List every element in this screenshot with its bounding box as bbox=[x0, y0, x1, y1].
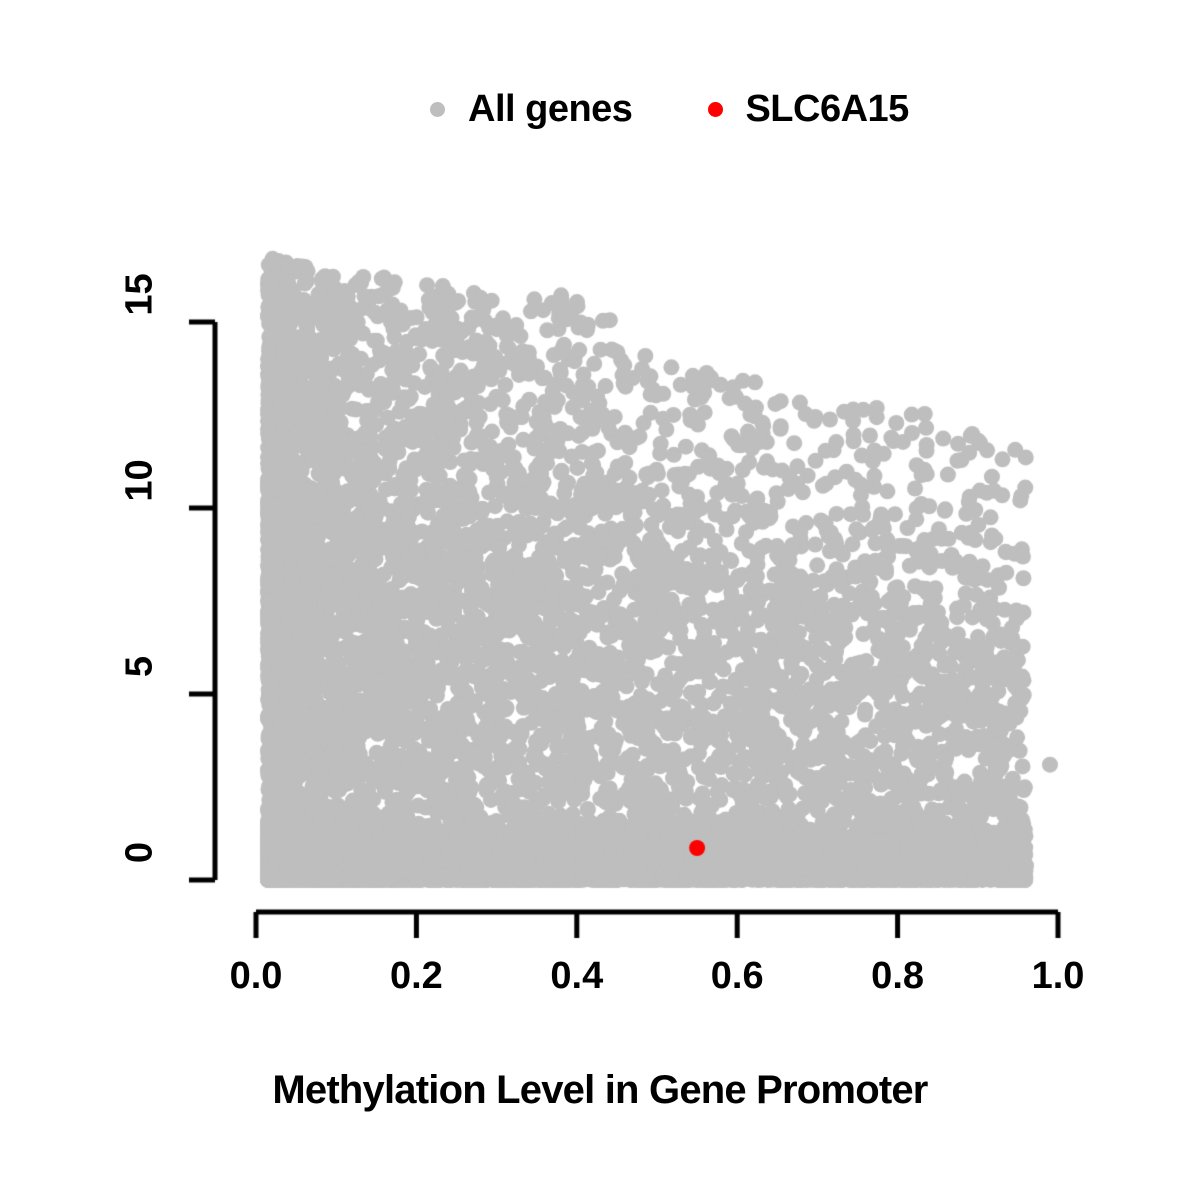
x-tick-label: 0.4 bbox=[550, 955, 603, 998]
chart-legend: All genes SLC6A15 bbox=[430, 78, 990, 140]
legend-marker-all-genes-icon bbox=[430, 102, 445, 117]
scatter-plot-figure: All genes SLC6A15 Gene Expression Level … bbox=[0, 0, 1200, 1200]
scatter-plot-canvas bbox=[0, 0, 1200, 1200]
y-tick-label: 5 bbox=[119, 637, 162, 697]
legend-marker-slc6a15-icon bbox=[708, 102, 723, 117]
legend-entry-all-genes: All genes bbox=[430, 88, 632, 131]
legend-entry-slc6a15: SLC6A15 bbox=[708, 88, 908, 131]
x-tick-label: 1.0 bbox=[1032, 955, 1085, 998]
y-tick-label: 10 bbox=[119, 451, 162, 511]
x-axis-label: Methylation Level in Gene Promoter bbox=[0, 1068, 1200, 1113]
legend-label-all-genes: All genes bbox=[468, 88, 632, 131]
x-tick-label: 0.8 bbox=[871, 955, 924, 998]
x-tick-label: 0.6 bbox=[711, 955, 764, 998]
y-tick-label: 15 bbox=[119, 265, 162, 325]
y-tick-label: 0 bbox=[119, 823, 162, 883]
x-tick-label: 0.0 bbox=[230, 955, 283, 998]
legend-label-slc6a15: SLC6A15 bbox=[745, 88, 908, 131]
x-tick-label: 0.2 bbox=[390, 955, 443, 998]
